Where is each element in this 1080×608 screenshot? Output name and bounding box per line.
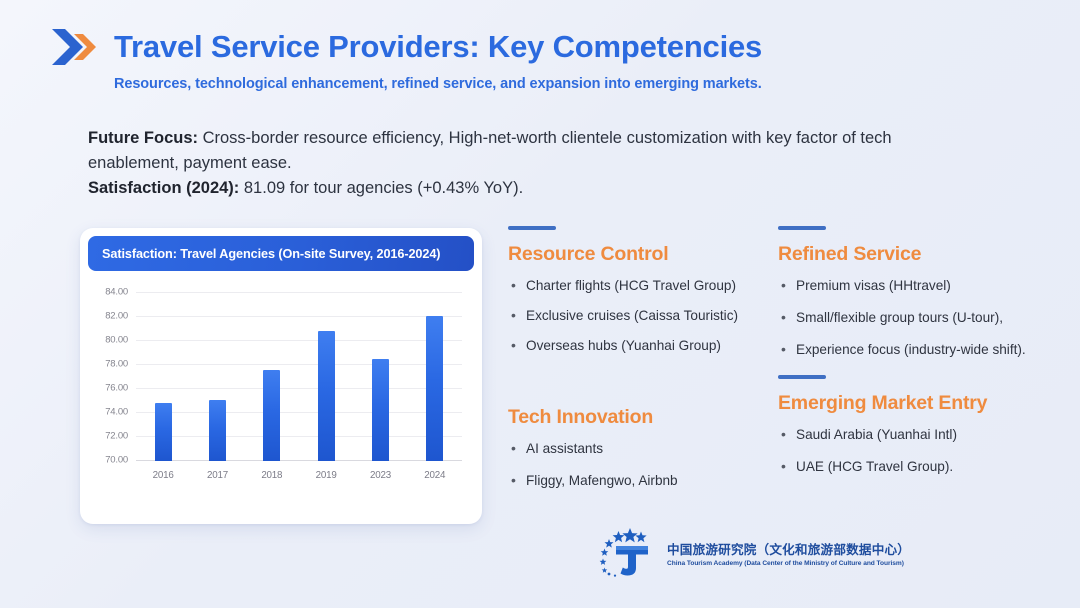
section-divider	[508, 226, 556, 230]
column-middle: Resource Control Charter flights (HCG Tr…	[508, 226, 770, 367]
list-item: AI assistants	[508, 440, 770, 458]
chart-bar-slot: 2016	[136, 293, 190, 461]
lead-label-future-focus: Future Focus:	[88, 129, 198, 147]
lead-line-future-focus: Future Focus: Cross-border resource effi…	[88, 126, 918, 176]
chart-bar-slot: 2023	[353, 293, 407, 461]
chart-y-axis-label: 78.00	[105, 359, 128, 370]
chart-title: Satisfaction: Travel Agencies (On-site S…	[102, 247, 440, 261]
chart-y-axis-label: 84.00	[105, 287, 128, 298]
list-item: UAE (HCG Travel Group).	[778, 458, 1068, 476]
slide-header: Travel Service Providers: Key Competenci…	[48, 26, 1040, 92]
chart-bar	[318, 331, 335, 461]
title-row: Travel Service Providers: Key Competenci…	[48, 26, 1040, 68]
lead-paragraph: Future Focus: Cross-border resource effi…	[88, 126, 918, 201]
bullet-list: Saudi Arabia (Yuanhai Intl) UAE (HCG Tra…	[778, 426, 1068, 476]
chart-x-axis-label: 2024	[424, 470, 445, 481]
chart-card: Satisfaction: Travel Agencies (On-site S…	[80, 228, 482, 524]
chart-plot-area: 70.0072.0074.0076.0078.0080.0082.0084.00…	[90, 285, 466, 491]
chart-title-bar: Satisfaction: Travel Agencies (On-site S…	[88, 236, 474, 271]
column-middle-lower: Tech Innovation AI assistants Fliggy, Ma…	[508, 406, 770, 504]
bullet-list: Charter flights (HCG Travel Group) Exclu…	[508, 277, 770, 355]
org-name-en: China Tourism Academy (Data Center of th…	[667, 560, 910, 567]
footer-logo: 中国旅游研究院（文化和旅游部数据中心） China Tourism Academ…	[596, 527, 910, 577]
footer-logo-text: 中国旅游研究院（文化和旅游部数据中心） China Tourism Academ…	[667, 537, 910, 567]
chart-y-axis-label: 74.00	[105, 407, 128, 418]
lead-line-satisfaction: Satisfaction (2024): 81.09 for tour agen…	[88, 176, 918, 201]
page-title: Travel Service Providers: Key Competenci…	[114, 30, 762, 63]
chart-bar	[263, 370, 280, 461]
list-item: Exclusive cruises (Caissa Touristic)	[508, 307, 770, 325]
org-name-cn: 中国旅游研究院（文化和旅游部数据中心）	[667, 539, 910, 558]
page-subtitle: Resources, technological enhancement, re…	[114, 76, 1040, 92]
chart-bar-slot: 2024	[408, 293, 462, 461]
chart-plot: 70.0072.0074.0076.0078.0080.0082.0084.00…	[136, 293, 462, 461]
chart-y-axis-label: 70.00	[105, 455, 128, 466]
chart-x-axis-label: 2019	[316, 470, 337, 481]
list-item: Fliggy, Mafengwo, Airbnb	[508, 472, 770, 490]
section-resource-control: Resource Control Charter flights (HCG Tr…	[508, 226, 770, 355]
chart-y-axis-label: 80.00	[105, 335, 128, 346]
section-refined-service: Refined Service Premium visas (HHtravel)…	[778, 226, 1068, 359]
chart-bar	[209, 400, 226, 461]
lead-label-satisfaction: Satisfaction (2024):	[88, 179, 239, 197]
lead-text-satisfaction: 81.09 for tour agencies (+0.43% YoY).	[239, 179, 523, 197]
column-right: Refined Service Premium visas (HHtravel)…	[778, 226, 1068, 373]
section-heading: Resource Control	[508, 243, 770, 266]
bullet-list: AI assistants Fliggy, Mafengwo, Airbnb	[508, 440, 770, 490]
list-item: Overseas hubs (Yuanhai Group)	[508, 337, 770, 355]
list-item: Premium visas (HHtravel)	[778, 277, 1068, 295]
chart-bars: 201620172018201920232024	[136, 293, 462, 461]
chart-bar-slot: 2018	[245, 293, 299, 461]
double-chevron-icon	[48, 26, 100, 68]
chart-y-axis-label: 76.00	[105, 383, 128, 394]
chart-x-axis-label: 2017	[207, 470, 228, 481]
list-item: Charter flights (HCG Travel Group)	[508, 277, 770, 295]
lead-text-future-focus: Cross-border resource efficiency, High-n…	[88, 129, 892, 172]
chart-y-axis-label: 72.00	[105, 431, 128, 442]
chart-bar	[372, 359, 389, 461]
chart-bar	[426, 316, 443, 461]
section-heading: Refined Service	[778, 243, 1068, 266]
chart-x-axis-label: 2016	[153, 470, 174, 481]
section-divider	[778, 375, 826, 379]
section-heading: Tech Innovation	[508, 406, 770, 429]
slide-root: Travel Service Providers: Key Competenci…	[0, 0, 1080, 608]
chart-bar	[155, 403, 172, 461]
chart-x-axis-label: 2023	[370, 470, 391, 481]
section-tech-innovation: Tech Innovation AI assistants Fliggy, Ma…	[508, 406, 770, 490]
section-emerging-market-entry: Emerging Market Entry Saudi Arabia (Yuan…	[778, 375, 1068, 476]
list-item: Saudi Arabia (Yuanhai Intl)	[778, 426, 1068, 444]
section-heading: Emerging Market Entry	[778, 392, 1068, 415]
column-right-lower: Emerging Market Entry Saudi Arabia (Yuan…	[778, 375, 1068, 490]
bullet-list: Premium visas (HHtravel) Small/flexible …	[778, 277, 1068, 359]
list-item: Small/flexible group tours (U-tour),	[778, 309, 1068, 327]
chart-x-axis-label: 2018	[261, 470, 282, 481]
list-item: Experience focus (industry-wide shift).	[778, 341, 1068, 359]
chart-y-axis-label: 82.00	[105, 311, 128, 322]
chart-bar-slot: 2017	[190, 293, 244, 461]
china-tourism-academy-logo-icon	[596, 527, 658, 577]
section-divider	[778, 226, 826, 230]
chart-bar-slot: 2019	[299, 293, 353, 461]
